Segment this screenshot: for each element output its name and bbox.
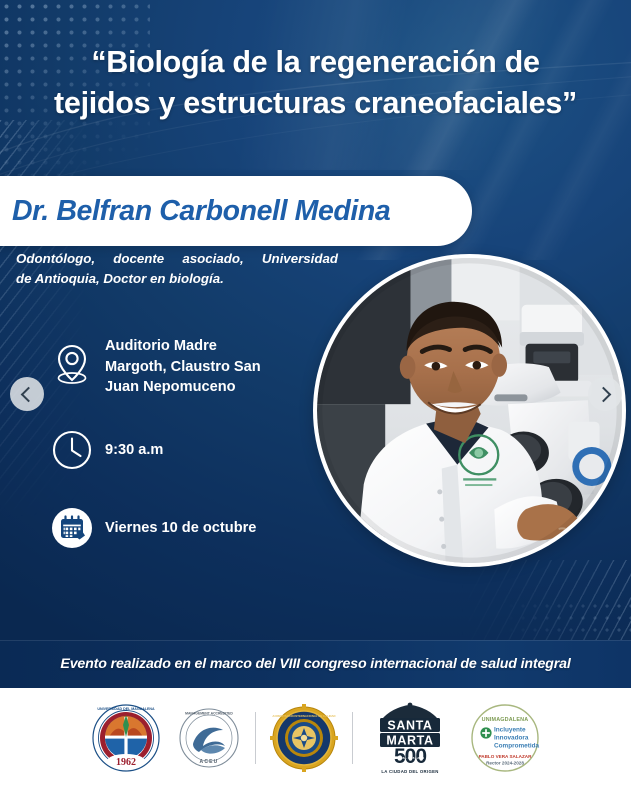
venue-line-3: Juan Nepomuceno <box>105 377 261 398</box>
chevron-left-icon <box>21 386 37 402</box>
logo-unimag-title: UNIMAGDALENA <box>481 717 528 723</box>
speaker-photo-illustration <box>317 258 622 563</box>
location-pin-icon <box>46 338 98 390</box>
logo-divider-2 <box>352 712 353 764</box>
logo-aceu-label: ACEU <box>199 759 218 765</box>
logo-aceu-ring-text: MANAGEMENT ACCREDITED <box>185 711 233 715</box>
detail-row-date: Viernes 10 de octubre <box>46 502 316 554</box>
venue-line-2: Margoth, Claustro San <box>105 357 261 378</box>
clock-icon <box>46 424 98 476</box>
event-details: Auditorio Madre Margoth, Claustro San Ju… <box>46 338 316 554</box>
footer-note-band: Evento realizado en el marco del VIII co… <box>0 640 631 688</box>
date-text: Viernes 10 de octubre <box>105 518 256 539</box>
speaker-name: Dr. Belfran Carbonell Medina <box>12 195 390 228</box>
speaker-photo <box>313 254 626 567</box>
carousel-prev-button[interactable] <box>10 377 44 411</box>
logo-gold-gear-seal: ACREDITACIÓN INTERNACIONAL DE CALIDAD <box>270 700 338 776</box>
speaker-role: Odontólogo, docente asociado, Universida… <box>16 249 338 289</box>
speaker-role-line-2: de Antioquia, Doctor en biología. <box>16 269 338 289</box>
detail-row-time: 9:30 a.m <box>46 424 316 476</box>
logo-universidad-del-magdalena: 1962 UNIVERSIDAD DEL MAGDALENA <box>89 700 163 776</box>
logo-santa-marta-line1: SANTA <box>387 718 432 732</box>
venue-text: Auditorio Madre Margoth, Claustro San Ju… <box>105 336 261 398</box>
logo-magdalena-ring-text: UNIVERSIDAD DEL MAGDALENA <box>97 707 155 711</box>
poster-title: “Biología de la regeneración de tejidos … <box>0 42 631 123</box>
logo-unimag-rector: PABLO VERA SALAZAR <box>478 754 532 759</box>
logo-magdalena-year: 1962 <box>116 757 136 768</box>
chevron-right-icon <box>596 386 612 402</box>
logo-unimag-word3: Comprometida <box>494 742 540 749</box>
detail-row-venue: Auditorio Madre Margoth, Claustro San Ju… <box>46 336 316 398</box>
footer-band-divider <box>0 640 631 641</box>
footer-note: Evento realizado en el marco del VIII co… <box>60 656 570 672</box>
event-poster: “Biología de la regeneración de tejidos … <box>0 0 631 787</box>
title-line-1: “Biología de la regeneración de <box>22 42 609 83</box>
logo-unimag-word2: Innovadora <box>494 734 529 741</box>
logo-divider-1 <box>255 712 256 764</box>
speaker-name-banner: Dr. Belfran Carbonell Medina <box>0 176 472 246</box>
logo-aceu-seal: MANAGEMENT ACCREDITED ACEU <box>177 700 241 776</box>
logo-santa-marta-500: SANTA MARTA 500 AÑOS · 1525 - 2025 LA CI… <box>367 700 453 776</box>
logo-gear-ring-text: ACREDITACIÓN INTERNACIONAL DE CALIDAD <box>272 713 335 718</box>
sponsor-logo-strip: 1962 UNIVERSIDAD DEL MAGDALENA MANAGEMEN… <box>0 688 631 787</box>
logo-unimag-period: Rector 2024-2028 <box>486 760 524 765</box>
logo-santa-marta-tagline: LA CIUDAD DEL ORIGEN <box>381 769 438 774</box>
calendar-icon <box>46 502 98 554</box>
logo-santa-marta-years: AÑOS · 1525 - 2025 <box>395 755 423 760</box>
time-text: 9:30 a.m <box>105 440 163 461</box>
speaker-role-line-1: Odontólogo, docente asociado, Universida… <box>16 249 338 269</box>
carousel-next-button[interactable] <box>588 377 622 411</box>
logo-unimag-word1: Incluyente <box>494 726 526 733</box>
venue-line-1: Auditorio Madre <box>105 336 261 357</box>
title-line-2: tejidos y estructuras craneofaciales” <box>22 83 609 124</box>
logo-unimagdalena-seal: UNIMAGDALENA Incluyente Innovadora Compr… <box>467 700 543 776</box>
